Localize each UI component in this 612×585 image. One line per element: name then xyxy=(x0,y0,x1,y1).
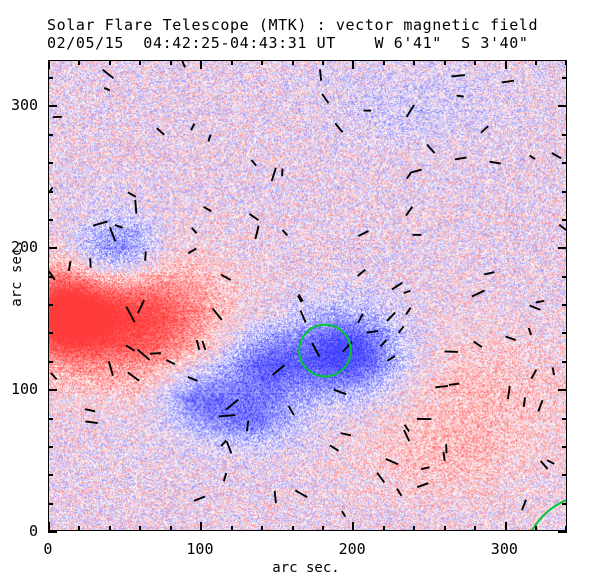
field-vector xyxy=(289,406,294,415)
field-vector xyxy=(524,397,525,406)
x-minor-tick xyxy=(383,526,385,531)
field-vector xyxy=(213,309,222,320)
field-vector xyxy=(531,370,536,379)
x-minor-tick-top xyxy=(322,60,324,65)
field-vector xyxy=(335,123,342,132)
field-vector xyxy=(412,170,422,173)
field-vector xyxy=(334,390,347,394)
y-major-tick xyxy=(48,105,57,107)
y-minor-tick-right xyxy=(562,503,567,505)
field-vector xyxy=(312,343,319,357)
field-vector xyxy=(320,69,321,80)
field-vector xyxy=(166,360,175,364)
field-vector xyxy=(392,283,402,290)
x-major-tick-top xyxy=(200,60,202,69)
field-vector xyxy=(377,473,384,483)
field-vector xyxy=(295,490,307,497)
x-major-tick-top xyxy=(352,60,354,69)
x-minor-tick xyxy=(474,526,476,531)
field-vector xyxy=(449,384,459,385)
field-vector xyxy=(85,421,97,423)
y-minor-tick xyxy=(48,474,53,476)
field-vector xyxy=(381,340,387,347)
field-vector xyxy=(247,420,249,431)
field-vector xyxy=(322,94,328,103)
y-minor-tick xyxy=(48,219,53,221)
field-vector xyxy=(272,365,284,375)
field-vector xyxy=(197,340,199,350)
y-major-tick xyxy=(48,389,57,391)
field-vector xyxy=(182,61,185,67)
field-vector xyxy=(367,331,378,333)
field-vector xyxy=(255,226,258,239)
field-vector xyxy=(208,135,210,142)
y-minor-tick-right xyxy=(562,191,567,193)
field-vector xyxy=(252,160,257,166)
x-tick-label: 100 xyxy=(186,540,213,558)
field-vector xyxy=(126,345,135,350)
field-vector xyxy=(386,459,398,464)
x-minor-tick-top xyxy=(413,60,415,65)
field-vector xyxy=(192,228,197,233)
x-minor-tick xyxy=(292,526,294,531)
y-tick-label: 0 xyxy=(29,522,38,540)
y-minor-tick xyxy=(48,332,53,334)
field-vector xyxy=(115,225,123,228)
field-vector xyxy=(358,270,366,276)
field-vector xyxy=(226,400,238,410)
field-vector xyxy=(109,361,113,375)
y-major-tick-right xyxy=(558,389,567,391)
field-vector xyxy=(421,467,429,469)
field-vector xyxy=(188,377,198,381)
field-vector xyxy=(103,70,114,78)
y-minor-tick xyxy=(48,77,53,79)
field-vector xyxy=(150,353,161,354)
field-vector xyxy=(427,144,434,153)
field-vector xyxy=(202,341,205,350)
field-vector xyxy=(529,328,531,335)
field-vector xyxy=(407,105,415,117)
field-vector xyxy=(536,301,545,303)
x-tick-label: 0 xyxy=(43,540,52,558)
field-vector xyxy=(188,249,196,254)
field-vector xyxy=(541,461,548,469)
magnetogram-figure: Solar Flare Telescope (MTK) : vector mag… xyxy=(0,0,612,585)
field-vector xyxy=(85,409,95,411)
x-minor-tick-top xyxy=(565,60,567,65)
y-minor-tick xyxy=(48,304,53,306)
field-vector xyxy=(443,452,444,461)
x-tick-label: 200 xyxy=(339,540,366,558)
field-vector xyxy=(405,425,409,432)
field-vector xyxy=(530,306,541,310)
field-vector xyxy=(552,153,561,158)
y-major-tick-right xyxy=(558,531,567,533)
y-minor-tick xyxy=(48,191,53,193)
x-minor-tick xyxy=(109,526,111,531)
y-minor-tick xyxy=(48,134,53,136)
y-minor-tick-right xyxy=(562,474,567,476)
field-vector xyxy=(522,500,526,510)
field-vector xyxy=(194,497,205,501)
y-minor-tick xyxy=(48,361,53,363)
field-vector xyxy=(451,75,464,76)
x-major-tick-top xyxy=(505,60,507,69)
field-vector xyxy=(358,231,368,236)
y-minor-tick-right xyxy=(562,77,567,79)
x-minor-tick xyxy=(444,526,446,531)
field-vector xyxy=(417,483,428,487)
field-vector xyxy=(342,511,345,517)
y-minor-tick xyxy=(48,446,53,448)
field-vector xyxy=(104,88,110,90)
y-minor-tick xyxy=(48,418,53,420)
field-vector xyxy=(506,337,516,340)
field-vector xyxy=(191,124,194,131)
y-major-tick-right xyxy=(558,247,567,249)
field-vector xyxy=(330,445,339,450)
x-minor-tick-top xyxy=(444,60,446,65)
y-minor-tick-right xyxy=(562,304,567,306)
figure-title: Solar Flare Telescope (MTK) : vector mag… xyxy=(47,16,538,34)
y-minor-tick xyxy=(48,276,53,278)
y-major-tick-right xyxy=(558,105,567,107)
y-minor-tick-right xyxy=(562,332,567,334)
x-minor-tick-top xyxy=(78,60,80,65)
x-minor-tick-top xyxy=(292,60,294,65)
field-vector xyxy=(51,373,57,379)
y-minor-tick-right xyxy=(562,276,567,278)
x-minor-tick-top xyxy=(261,60,263,65)
field-vector xyxy=(472,291,484,297)
field-vector xyxy=(455,157,467,159)
field-vector xyxy=(301,310,306,322)
field-vector xyxy=(404,291,411,293)
field-vector xyxy=(387,356,395,361)
field-vector xyxy=(93,221,108,225)
x-minor-tick xyxy=(413,526,415,531)
y-minor-tick-right xyxy=(562,162,567,164)
x-minor-tick-top xyxy=(231,60,233,65)
x-minor-tick xyxy=(535,526,537,531)
field-vector xyxy=(224,473,226,481)
field-vector xyxy=(282,230,287,235)
field-vector xyxy=(221,275,231,280)
field-vector xyxy=(547,460,554,464)
field-vector xyxy=(559,225,566,230)
plot-area xyxy=(48,60,567,531)
y-tick-label: 300 xyxy=(11,96,38,114)
field-vector xyxy=(137,349,149,359)
limb-contour-arc xyxy=(532,500,566,530)
field-vector xyxy=(406,308,411,315)
field-vector xyxy=(126,307,134,323)
field-vector xyxy=(227,441,232,453)
field-vector xyxy=(138,300,144,313)
field-vector xyxy=(110,227,115,241)
x-minor-tick-top xyxy=(170,60,172,65)
y-minor-tick xyxy=(48,503,53,505)
x-tick-label: 300 xyxy=(491,540,518,558)
x-major-tick xyxy=(505,522,507,531)
x-major-tick-top xyxy=(48,60,50,69)
field-vector xyxy=(435,386,448,387)
field-vector xyxy=(553,367,554,375)
field-vector xyxy=(406,207,412,216)
field-vector xyxy=(489,162,500,164)
field-vector xyxy=(399,326,404,333)
field-vector xyxy=(204,207,212,211)
x-major-tick xyxy=(48,522,50,531)
field-vector xyxy=(387,313,395,321)
y-major-tick xyxy=(48,531,57,533)
x-minor-tick xyxy=(261,526,263,531)
figure-subtitle: 02/05/15 04:42:25-04:43:31 UT W 6'41" S … xyxy=(47,34,529,52)
field-vector xyxy=(341,433,351,435)
field-vector xyxy=(221,440,226,446)
field-vector xyxy=(358,314,363,323)
x-axis-title: arc sec. xyxy=(0,560,612,576)
x-major-tick xyxy=(200,522,202,531)
x-minor-tick xyxy=(78,526,80,531)
field-vector xyxy=(128,372,139,380)
field-vector xyxy=(508,386,510,399)
x-minor-tick-top xyxy=(109,60,111,65)
field-vector xyxy=(407,172,412,179)
x-minor-tick-top xyxy=(474,60,476,65)
field-vector xyxy=(145,251,146,260)
y-minor-tick-right xyxy=(562,418,567,420)
x-minor-tick xyxy=(322,526,324,531)
field-vector xyxy=(530,155,535,159)
x-minor-tick-top xyxy=(139,60,141,65)
field-vector xyxy=(484,272,494,274)
field-vector xyxy=(474,342,482,348)
y-minor-tick xyxy=(48,162,53,164)
y-tick-label: 100 xyxy=(11,380,38,398)
x-minor-tick xyxy=(139,526,141,531)
field-vector xyxy=(128,192,136,196)
field-vector xyxy=(446,444,447,453)
field-vector xyxy=(49,270,55,280)
y-minor-tick-right xyxy=(562,219,567,221)
field-vector xyxy=(397,489,401,496)
x-major-tick xyxy=(352,522,354,531)
field-vector xyxy=(69,261,71,271)
field-vector xyxy=(272,168,276,181)
field-vector xyxy=(538,400,542,411)
y-minor-tick-right xyxy=(562,446,567,448)
vector-and-contour-overlay xyxy=(49,61,566,530)
y-minor-tick-right xyxy=(562,134,567,136)
field-vector xyxy=(219,415,236,416)
y-major-tick xyxy=(48,247,57,249)
field-vector xyxy=(457,96,464,97)
field-vector xyxy=(275,491,276,503)
x-minor-tick-top xyxy=(535,60,537,65)
x-minor-tick xyxy=(231,526,233,531)
field-vector xyxy=(135,200,136,214)
y-axis-title: arc sec. xyxy=(9,228,25,318)
x-minor-tick xyxy=(170,526,172,531)
field-vector xyxy=(481,126,488,133)
field-vector xyxy=(250,214,259,220)
field-vector xyxy=(157,128,164,135)
y-minor-tick-right xyxy=(562,361,567,363)
field-vector xyxy=(502,81,514,83)
x-minor-tick-top xyxy=(383,60,385,65)
